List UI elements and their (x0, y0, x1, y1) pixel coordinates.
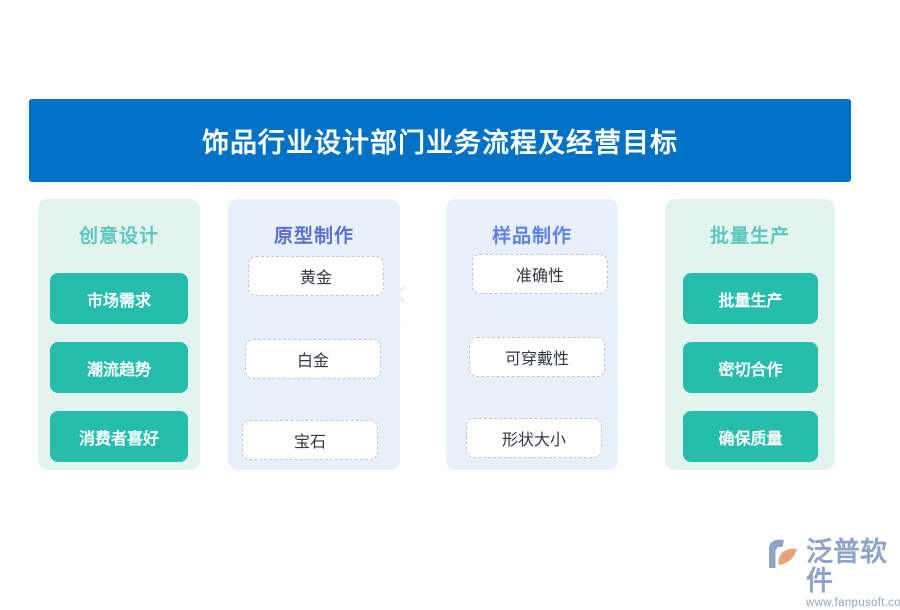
fanpu-logo-icon (766, 538, 802, 570)
process-item[interactable]: 白金 (245, 339, 381, 379)
logo-wordmark: 泛普软件 (806, 538, 900, 596)
process-item[interactable]: 市场需求 (50, 273, 188, 324)
process-item[interactable]: 确保质量 (683, 411, 818, 462)
process-column-prototype-making: 原型制作 黄金 白金 宝石 (228, 199, 400, 470)
column-header: 创意设计 (38, 221, 200, 248)
column-header: 原型制作 (228, 221, 400, 248)
process-item[interactable]: 宝石 (242, 420, 378, 460)
process-item[interactable]: 消费者喜好 (50, 411, 188, 462)
process-item[interactable]: 潮流趋势 (50, 342, 188, 393)
process-item[interactable]: 密切合作 (683, 342, 818, 393)
column-header: 批量生产 (665, 221, 835, 248)
process-item[interactable]: 批量生产 (683, 273, 818, 324)
process-column-mass-production: 批量生产 批量生产 密切合作 确保质量 (665, 199, 835, 470)
process-item[interactable]: 黄金 (248, 256, 384, 296)
footer-logo: 泛普软件 www.fanpusoft.com (766, 538, 900, 610)
page-title: 饰品行业设计部门业务流程及经营目标 (202, 121, 678, 160)
page-title-banner: 饰品行业设计部门业务流程及经营目标 (29, 99, 851, 182)
process-item[interactable]: 形状大小 (466, 418, 602, 458)
process-column-creative-design: 创意设计 市场需求 潮流趋势 消费者喜好 (38, 199, 200, 470)
process-item[interactable]: 可穿戴性 (469, 337, 605, 377)
logo-url: www.fanpusoft.com (806, 596, 900, 610)
process-column-sample-making: 样品制作 准确性 可穿戴性 形状大小 (446, 199, 618, 470)
process-item[interactable]: 准确性 (472, 254, 608, 294)
column-header: 样品制作 (446, 221, 618, 248)
